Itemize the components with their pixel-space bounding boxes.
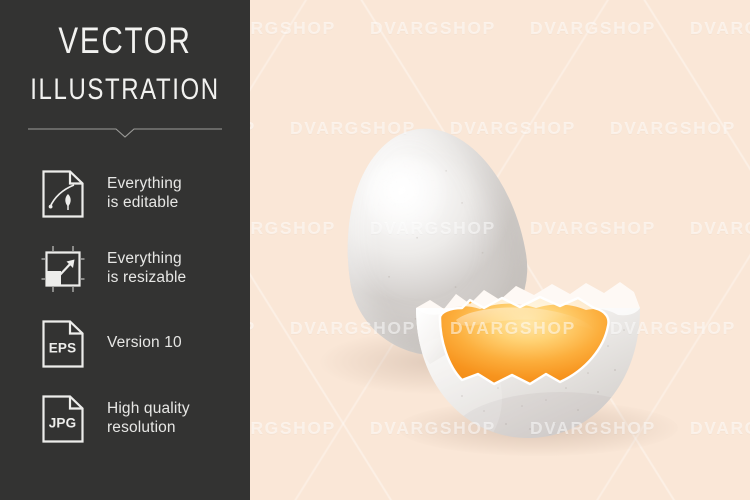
feature-label-line2: is editable xyxy=(107,194,182,213)
watermark: DVARGSHOP xyxy=(690,418,750,439)
feature-list: Everything is editable xyxy=(0,156,250,456)
feature-label-resizable: Everything is resizable xyxy=(107,250,186,287)
illustration-preview: DVARGSHOP DVARGSHOP DVARGSHOP DVARGSHOP … xyxy=(0,0,750,500)
feature-label-line2: resolution xyxy=(107,419,190,438)
jpg-icon-text: JPG xyxy=(49,415,77,430)
watermark: DVARGSHOP xyxy=(610,118,736,139)
eps-icon-text: EPS xyxy=(49,340,77,355)
eps-file-icon: EPS xyxy=(41,319,85,369)
watermark: DVARGSHOP xyxy=(250,18,336,39)
resize-arrow-icon xyxy=(41,244,85,294)
feature-label-editable: Everything is editable xyxy=(107,175,182,212)
title-divider xyxy=(28,126,222,138)
feature-label-line1: Version 10 xyxy=(107,334,182,351)
page-subtitle: ILLUSTRATION xyxy=(25,74,225,106)
document-pen-icon xyxy=(41,169,85,219)
feature-label-line1: Everything xyxy=(107,250,182,267)
feature-item-resizable: Everything is resizable xyxy=(0,231,250,306)
feature-item-editable: Everything is editable xyxy=(0,156,250,231)
feature-label-line1: Everything xyxy=(107,175,182,192)
watermark: DVARGSHOP xyxy=(250,218,336,239)
feature-label-resolution: High quality resolution xyxy=(107,400,190,437)
watermark: DVARGSHOP xyxy=(690,18,750,39)
watermark: DVARGSHOP xyxy=(530,218,656,239)
watermark: DVARGSHOP xyxy=(530,18,656,39)
watermark: DVARGSHOP xyxy=(250,318,256,339)
feature-item-version: EPS Version 10 xyxy=(0,306,250,381)
watermark: DVARGSHOP xyxy=(250,118,256,139)
info-panel: VECTOR ILLUSTRATION xyxy=(0,0,250,500)
cracked-half-shell xyxy=(410,278,645,443)
watermark: DVARGSHOP xyxy=(690,218,750,239)
feature-label-line2: is resizable xyxy=(107,269,186,288)
watermark: DVARGSHOP xyxy=(370,18,496,39)
artwork-area: DVARGSHOP DVARGSHOP DVARGSHOP DVARGSHOP … xyxy=(250,0,750,500)
watermark: DVARGSHOP xyxy=(250,418,336,439)
feature-label-line1: High quality xyxy=(107,400,190,417)
page-title: VECTOR xyxy=(25,22,225,61)
feature-label-version: Version 10 xyxy=(107,334,182,353)
feature-item-resolution: JPG High quality resolution xyxy=(0,381,250,456)
jpg-file-icon: JPG xyxy=(41,394,85,444)
title-block: VECTOR ILLUSTRATION xyxy=(0,22,250,105)
